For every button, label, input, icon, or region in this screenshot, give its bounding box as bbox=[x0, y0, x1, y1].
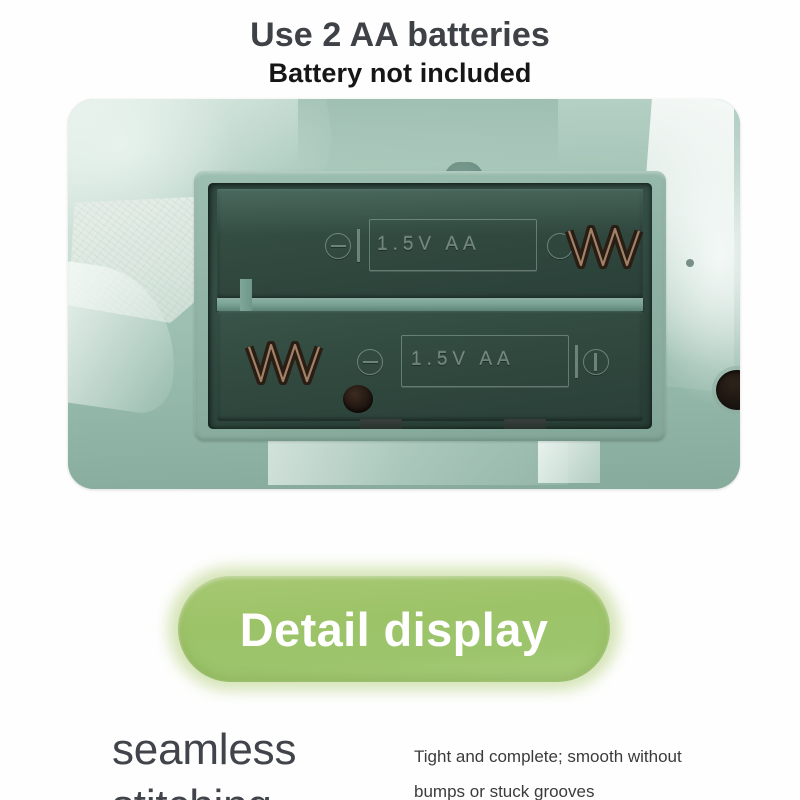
headline-secondary: Battery not included bbox=[0, 57, 800, 89]
battery-compartment-photo: 1.5V AA bbox=[68, 99, 740, 489]
plastic-highlight-bottom bbox=[268, 437, 568, 485]
battery-bay-interior: 1.5V AA bbox=[208, 183, 652, 429]
negative-sign-icon-top bbox=[331, 245, 346, 247]
footer-heading: seamless stitching bbox=[112, 722, 402, 800]
plastic-shadow-top bbox=[298, 99, 558, 165]
terminal-divider-bottom bbox=[575, 345, 578, 378]
detail-display-label: Detail display bbox=[240, 606, 549, 653]
footer-description: Tight and complete; smooth without bumps… bbox=[414, 740, 754, 800]
photo-canvas: 1.5V AA bbox=[68, 99, 740, 489]
detail-display-button[interactable]: Detail display bbox=[178, 576, 610, 682]
product-detail-page: Use 2 AA batteries Battery not included bbox=[0, 0, 800, 800]
battery-spring-bottom bbox=[245, 341, 325, 385]
negative-sign-icon-bottom bbox=[363, 361, 378, 363]
battery-slot-bottom: 1.5V AA bbox=[217, 311, 643, 421]
positive-sign-icon-bottom bbox=[594, 353, 597, 371]
bay-floor-tab-right bbox=[504, 419, 546, 429]
mounting-pin-icon bbox=[686, 259, 694, 267]
bay-floor-tab-left bbox=[360, 419, 402, 429]
slot-divider-rail bbox=[217, 298, 643, 311]
battery-spring-top bbox=[565, 225, 645, 269]
battery-spec-label-top: 1.5V AA bbox=[377, 234, 481, 256]
header-block: Use 2 AA batteries Battery not included bbox=[0, 0, 800, 100]
battery-bay-frame: 1.5V AA bbox=[194, 171, 666, 441]
battery-spec-label-bottom: 1.5V AA bbox=[411, 349, 515, 371]
footer-description-line-1: Tight and complete; smooth without bbox=[414, 740, 754, 775]
headline-primary: Use 2 AA batteries bbox=[0, 16, 800, 54]
terminal-divider-top bbox=[357, 229, 360, 262]
battery-slot-top: 1.5V AA bbox=[217, 189, 643, 299]
negative-contact-dome-bottom bbox=[343, 385, 373, 413]
footer-description-line-2: bumps or stuck grooves bbox=[414, 775, 754, 800]
detail-display-banner: Detail display bbox=[168, 567, 620, 691]
